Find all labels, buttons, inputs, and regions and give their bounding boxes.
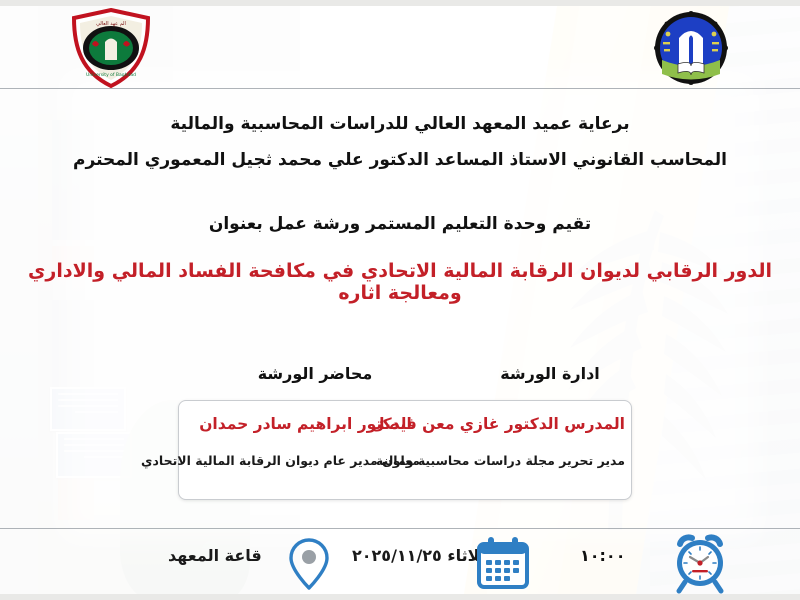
administrator-name: المدرس الدكتور غازي معن فيصل [415, 415, 625, 433]
administrator-subtitle: مدير تحرير مجلة دراسات محاسبية ومالية [415, 453, 625, 468]
patron-line-2: المحاسب القانوني الاستاذ المساعد الدكتور… [0, 150, 800, 170]
lecturer-name: الدكتور ابراهيم سادر حمدان [193, 415, 418, 433]
time-text: ١٠:٠٠ [580, 546, 625, 565]
role-label-lecturer: محاضر الورشة [225, 364, 405, 383]
time-item: ١٠:٠٠ [580, 546, 625, 565]
calendar-icon [474, 534, 532, 592]
role-label-administration: ادارة الورشة [470, 364, 630, 383]
patron-line-1: برعاية عميد المعهد العالي للدراسات المحا… [0, 114, 800, 134]
organizer-line: تقيم وحدة التعليم المستمر ورشة عمل بعنوا… [0, 214, 800, 234]
venue-text: قاعة المعهد [168, 546, 262, 565]
venue-item: قاعة المعهد [168, 546, 262, 565]
location-pin-icon [286, 536, 332, 592]
lecturer-subtitle: معاون مدير عام ديوان الرقابة المالية الا… [185, 453, 420, 468]
workshop-poster: الم عهد العالي University of Baghdad برع… [0, 0, 800, 600]
people-card: المدرس الدكتور غازي معن فيصل الدكتور ابر… [178, 400, 632, 500]
workshop-title: الدور الرقابي لديوان الرقابة المالية الا… [0, 260, 800, 304]
alarm-clock-icon [668, 532, 732, 594]
event-details-bar: قاعة المعهد الثلاثاء ٢٠٢٥/١١/٢٥ [0, 528, 800, 600]
